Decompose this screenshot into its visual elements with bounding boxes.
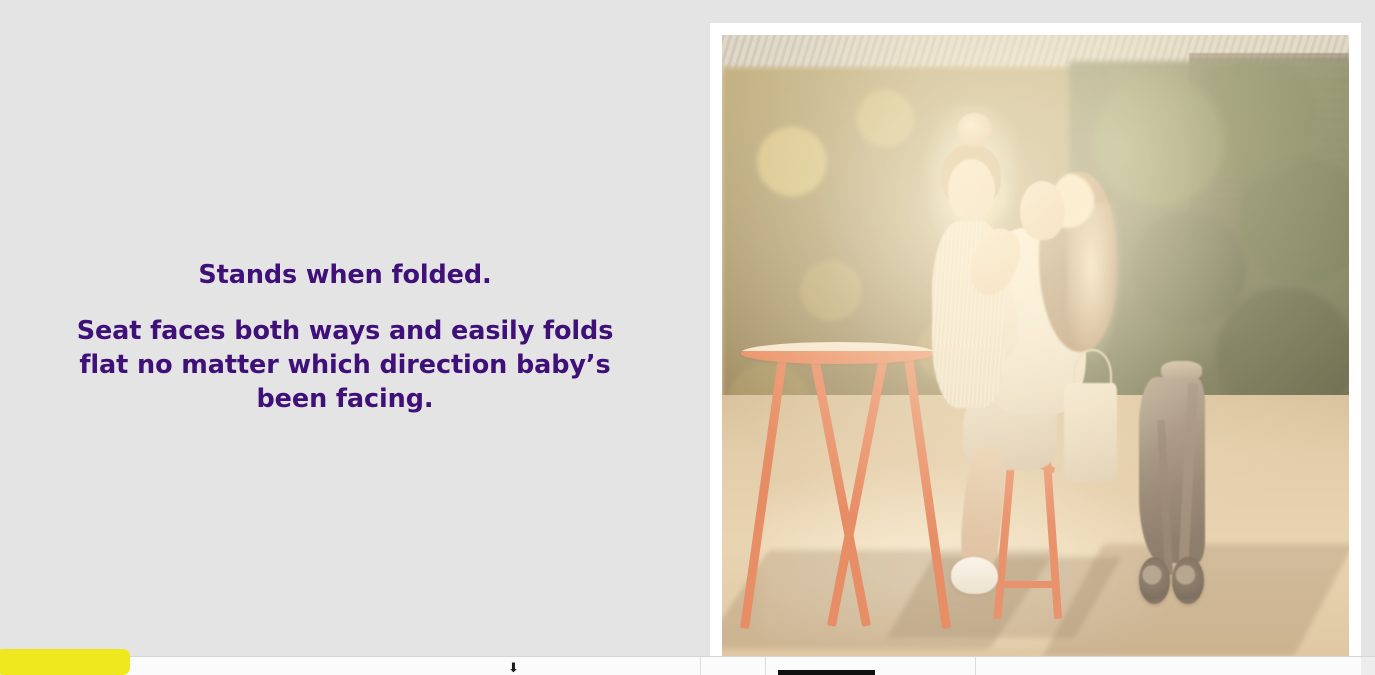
chair-foot-rail [1004, 581, 1058, 587]
orange-bistro-table [741, 342, 935, 363]
slide-headline: Stands when folded. [38, 259, 652, 292]
tote-bag [1064, 383, 1117, 482]
toddler-head [948, 159, 995, 221]
toddler-hair-bun [957, 113, 991, 147]
mother-shoe [951, 557, 998, 594]
hair-sun-glow [1067, 203, 1123, 364]
lifestyle-photo [722, 35, 1349, 656]
stroller-wheel [1139, 557, 1170, 604]
photo-card [710, 23, 1361, 668]
stroller-handle [1161, 361, 1202, 381]
black-strip [778, 670, 875, 675]
stroller-wheel [1172, 557, 1203, 604]
download-chip[interactable] [0, 649, 130, 675]
browser-bottom-bar: ⬇ [0, 656, 1375, 675]
bar-divider [765, 657, 766, 675]
slide-subline: Seat faces both ways and easily folds fl… [53, 314, 638, 416]
presentation-slide: Stands when folded. Seat faces both ways… [0, 0, 1375, 675]
bar-right-padding [1361, 657, 1375, 675]
slide-copy-panel: Stands when folded. Seat faces both ways… [0, 0, 690, 675]
download-icon[interactable]: ⬇ [508, 662, 526, 675]
bar-divider [975, 657, 976, 675]
bar-divider [700, 657, 701, 675]
photo-scene [722, 35, 1349, 656]
